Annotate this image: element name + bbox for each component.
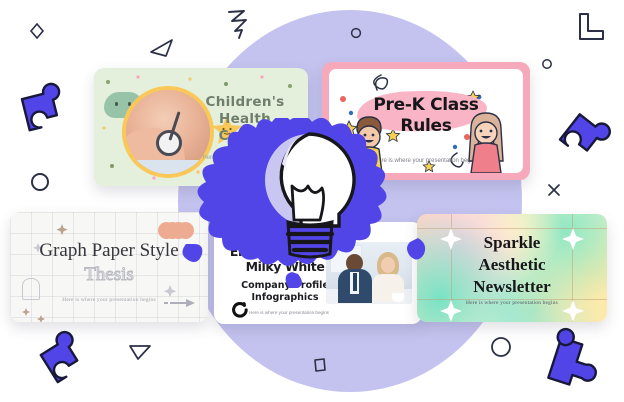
puzzle-piece-bottom-right bbox=[538, 332, 604, 394]
puzzle-piece-bottom-left bbox=[36, 330, 98, 392]
cross-mark-right bbox=[546, 182, 562, 198]
corner-bracket-top-right bbox=[574, 12, 606, 42]
circle-outline-in-circle bbox=[350, 27, 362, 39]
spiral-logo-icon bbox=[230, 300, 248, 318]
circle-outline-left bbox=[30, 172, 50, 192]
girl-character-illustration bbox=[459, 111, 513, 173]
lightbulb-ink-splash bbox=[178, 118, 446, 288]
slide-footer: Here is where your presentation begins bbox=[417, 300, 607, 306]
triangle-outline-bottom-left bbox=[128, 343, 152, 361]
arrow-right-icon bbox=[164, 298, 196, 308]
puzzle-piece-right bbox=[552, 110, 614, 172]
zigzag-scribble-top bbox=[226, 8, 252, 40]
triangle-outline-top bbox=[148, 38, 174, 58]
slide-footer: Here is where your presentation begins bbox=[244, 310, 334, 315]
lightbulb-icon bbox=[254, 128, 364, 260]
circle-outline-bottom-right bbox=[490, 336, 512, 358]
diamond-outline-top-left bbox=[28, 22, 46, 40]
square-outline-bottom bbox=[312, 357, 328, 373]
small-circle-outline-right bbox=[541, 58, 553, 70]
title-line-1: Children's bbox=[196, 94, 294, 111]
slide-template-showcase: Children's Health Center Here is where y… bbox=[0, 0, 624, 402]
puzzle-piece-top-left bbox=[12, 82, 78, 144]
